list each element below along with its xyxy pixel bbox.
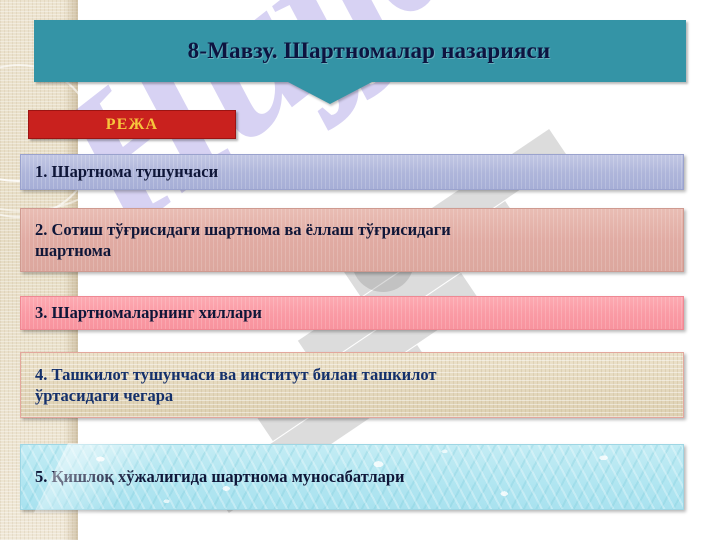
plan-item-4: 4. Ташкилот тушунчаси ва институт билан … xyxy=(20,352,684,418)
presentation-slide: Hujjat 24 8-Мавзу. Шартномалар назарияси… xyxy=(0,0,720,540)
title-banner-arrow-tab xyxy=(288,82,372,104)
plan-item-4-text: 4. Ташкилот тушунчаси ва институт билан … xyxy=(21,364,451,407)
plan-item-5-text: 5. Қишлоқ хўжалигида шартнома муносабатл… xyxy=(21,466,419,487)
plan-item-1: 1. Шартнома тушунчаси xyxy=(20,154,684,190)
plan-banner-label: РЕЖА xyxy=(106,116,159,134)
plan-item-5: 5. Қишлоқ хўжалигида шартнома муносабатл… xyxy=(20,444,684,510)
plan-item-2-text: 2. Сотиш тўғрисидаги шартнома ва ёллаш т… xyxy=(21,219,465,262)
plan-item-2: 2. Сотиш тўғрисидаги шартнома ва ёллаш т… xyxy=(20,208,684,272)
plan-item-3: 3. Шартномаларнинг хиллари xyxy=(20,296,684,330)
title-banner: 8-Мавзу. Шартномалар назарияси xyxy=(34,20,686,82)
title-banner-wrapper: 8-Мавзу. Шартномалар назарияси xyxy=(34,20,686,82)
plan-banner: РЕЖА xyxy=(28,110,236,139)
slide-title: 8-Мавзу. Шартномалар назарияси xyxy=(170,38,551,64)
plan-item-1-text: 1. Шартнома тушунчаси xyxy=(21,161,232,182)
plan-item-3-text: 3. Шартномаларнинг хиллари xyxy=(21,302,276,323)
